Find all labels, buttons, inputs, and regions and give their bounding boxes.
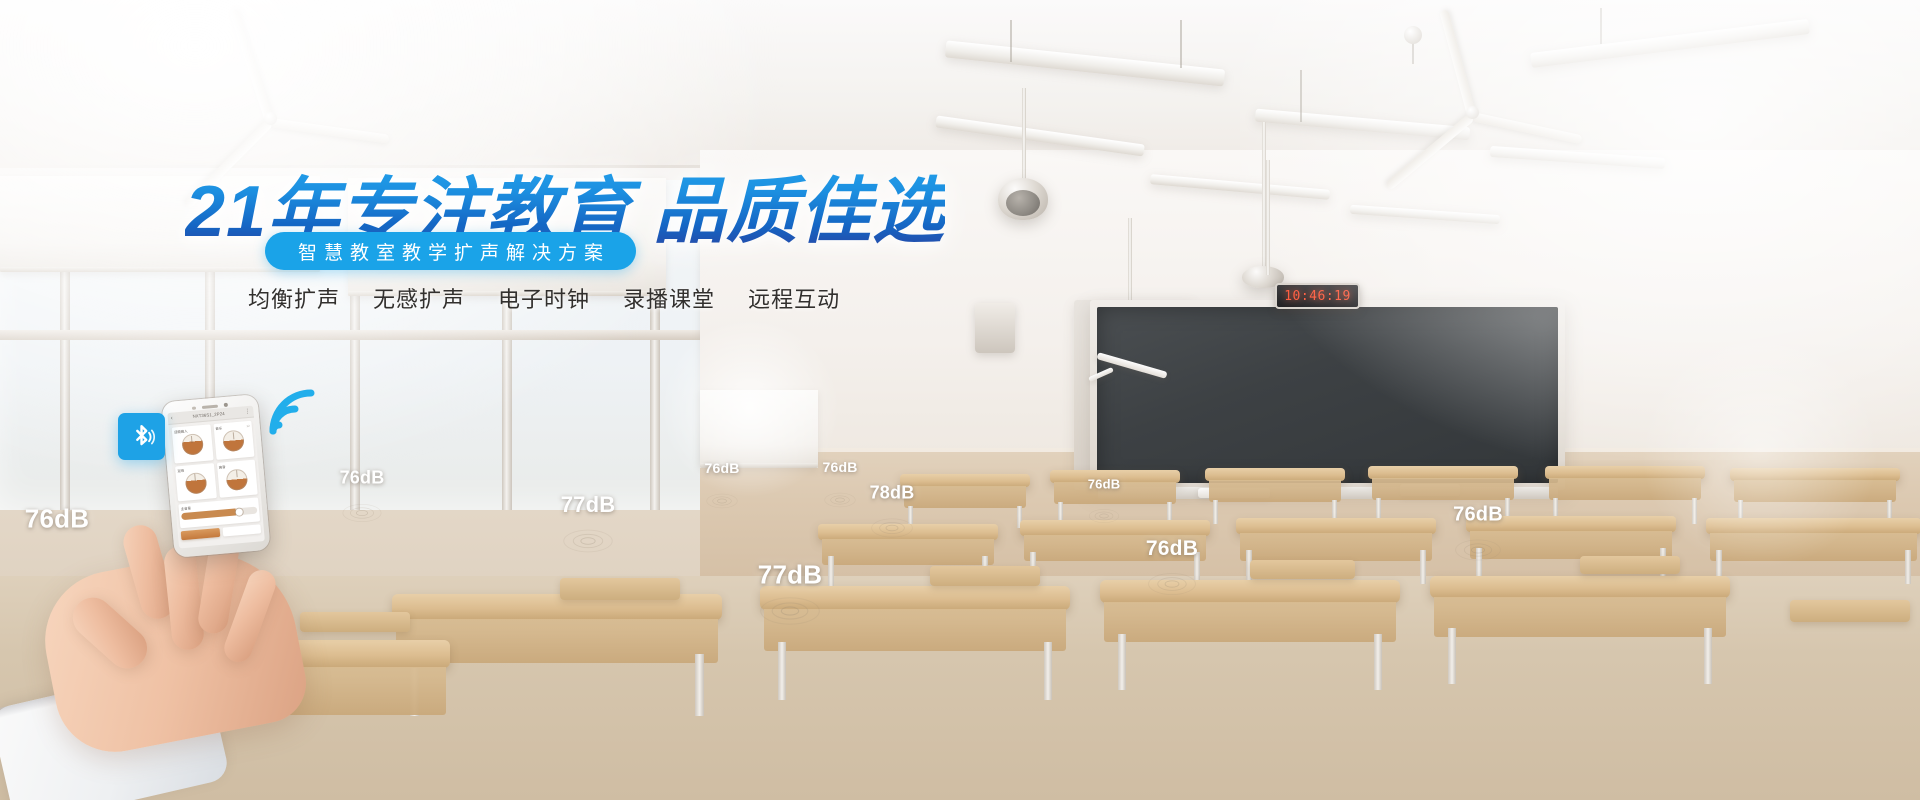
db-readout: 76dB (1088, 477, 1121, 492)
wifi-signal-icon (265, 383, 325, 435)
bluetooth-icon (118, 413, 165, 460)
phone-screen[interactable]: ‹ NXT36S1_2P24 ⋮ 话筒输入音乐12混响高音主音量 (167, 406, 265, 549)
rotary-knob[interactable] (181, 433, 204, 456)
control-card[interactable]: 话筒输入 (172, 424, 213, 463)
db-readout: 78dB (870, 483, 915, 504)
sound-ripple-marker (1146, 572, 1198, 596)
db-readout: 76dB (340, 468, 385, 489)
sound-ripple-marker (870, 518, 915, 539)
desk (1205, 468, 1345, 524)
control-grid: 话筒输入音乐12混响高音主音量 (168, 417, 264, 548)
wall-speaker (975, 303, 1015, 353)
feature-item: 远程互动 (748, 282, 840, 314)
db-readout: 77dB (758, 560, 822, 591)
chair (930, 566, 1040, 586)
chair (560, 578, 680, 600)
desk (1706, 518, 1920, 594)
feature-list: 均衡扩声无感扩声电子时钟录播课堂远程互动 (248, 282, 840, 314)
rotary-knob[interactable] (226, 468, 249, 491)
chair (1250, 560, 1355, 579)
db-readout: 76dB (1453, 504, 1503, 527)
action-button-row (181, 524, 262, 545)
db-readout: 76dB (1146, 537, 1198, 561)
control-card-value: 12 (246, 423, 250, 427)
db-readout: 77dB (561, 492, 616, 518)
control-card-label: 高音 (218, 464, 225, 470)
sound-ripple-marker (561, 529, 614, 554)
control-card[interactable]: 高音 (216, 459, 257, 498)
action-button[interactable] (222, 524, 261, 536)
sound-ripple-marker (705, 493, 739, 509)
control-card-label: 音乐 (215, 425, 222, 431)
desk (1100, 580, 1400, 692)
subtitle-text: 智慧教室教学扩声解决方案 (291, 238, 610, 265)
classroom-banner: 10:46:19 (0, 0, 1920, 800)
light-glare (1240, 0, 1920, 460)
sound-ripple-marker (1453, 539, 1502, 562)
sound-ripple-marker (823, 492, 857, 508)
sound-ripple-marker (758, 596, 822, 626)
desk (900, 474, 1030, 528)
subtitle-pill: 智慧教室教学扩声解决方案 (265, 232, 636, 270)
desk (1430, 576, 1730, 686)
feature-item: 电子时钟 (498, 282, 590, 314)
feature-item: 均衡扩声 (248, 282, 340, 314)
action-button[interactable] (181, 527, 220, 539)
db-readout: 76dB (822, 459, 857, 475)
control-card[interactable]: 混响 (175, 463, 216, 502)
chevron-left-icon[interactable]: ‹ (171, 415, 174, 421)
rotary-knob[interactable] (222, 429, 245, 452)
volume-slider-card[interactable]: 主音量 (178, 497, 260, 527)
db-readout: 76dB (704, 460, 739, 476)
control-card[interactable]: 音乐12 (213, 421, 254, 460)
control-card-label: 混响 (177, 467, 184, 473)
sound-ripple-marker (1088, 508, 1120, 523)
smartphone[interactable]: ‹ NXT36S1_2P24 ⋮ 话筒输入音乐12混响高音主音量 (161, 394, 270, 558)
rotary-knob[interactable] (184, 471, 207, 494)
more-vertical-icon[interactable]: ⋮ (244, 408, 251, 415)
chair (1790, 600, 1910, 622)
control-card-label: 话筒输入 (174, 428, 188, 434)
feature-item: 无感扩声 (373, 282, 465, 314)
chair (1580, 556, 1680, 574)
feature-item: 录播课堂 (623, 282, 715, 314)
